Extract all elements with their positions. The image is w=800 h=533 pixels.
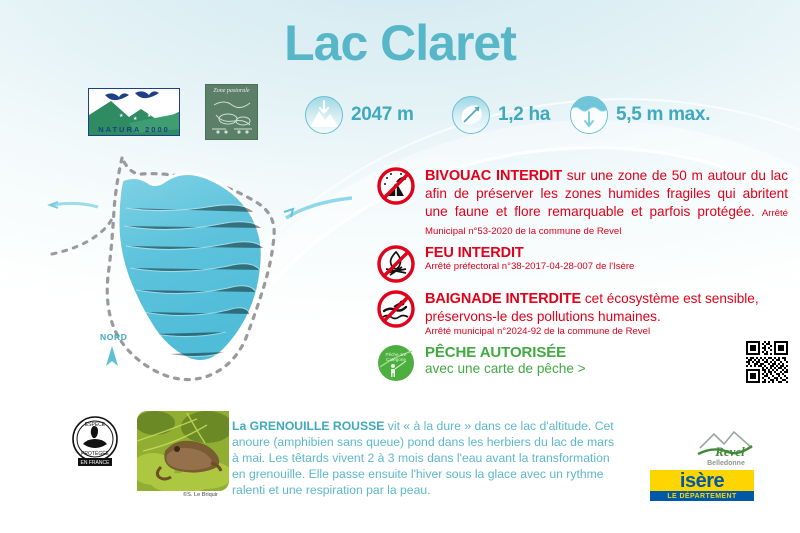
stat-area: 1,2 ha [452,96,550,134]
stat-altitude-value: 2047 m [351,104,414,126]
zone-pastorale-label: Zone pastorale [206,88,257,94]
page-title: Lac Claret [0,14,800,72]
stamp-top-label: ESPÈCE [85,421,106,428]
rules-list: BIVOUAC INTERDIT sur une zone de 50 m au… [376,166,788,388]
photo-credit: ©S. Le Briquir [183,492,218,498]
no-swimming-icon [376,289,416,329]
lake-water [118,173,264,361]
rule-swimming-body: BAIGNADE INTERDITE cet écosystème est se… [425,289,788,338]
fishing-badge-line2: Catégorie [386,357,406,362]
lake-map: NORD [22,150,372,410]
isere-tagline: LE DÉPARTEMENT [667,493,736,500]
zone-pastorale-logo: Zone pastorale [205,84,258,140]
rule-swimming-reference: Arrêté municipal n°2024-92 de la commune… [425,326,788,338]
rule-fire-reference: Arrêté préfectoral n°38-2017-04-28-007 d… [425,261,788,273]
revel-belledonne-logo: Revel Belledonne [690,428,762,468]
revel-name: Revel [714,444,745,459]
mountain-altitude-icon [305,96,343,134]
rule-fire-body: FEU INTERDIT Arrêté préfectoral n°38-201… [425,244,788,284]
isere-name: isère [680,471,724,491]
stat-altitude: 2047 m [305,96,414,134]
rule-bivouac-body: BIVOUAC INTERDIT sur une zone de 50 m au… [425,166,788,239]
svg-text:★: ★ [133,116,138,122]
rule-swimming: BAIGNADE INTERDITE cet écosystème est se… [376,289,788,338]
fishing-allowed-icon: Pêche 1re Catégorie [376,343,416,383]
natura-2000-logo: ★★★ ★★★ NATURA 2000 [88,88,180,136]
isere-tagline-bar: LE DÉPARTEMENT [650,491,754,501]
stamp-banner-label: EN FRANCE [81,460,111,466]
rule-swimming-headline: BAIGNADE INTERDITE [425,291,581,307]
water-depth-icon [570,96,608,134]
svg-text:★: ★ [123,106,128,112]
rule-fishing-headline: PÊCHE AUTORISÉE [425,344,729,361]
species-description: La GRENOUILLE ROUSSE vit « à la dure » d… [232,418,622,498]
rule-fire-headline: FEU INTERDIT [425,245,788,261]
no-fire-icon [376,244,416,284]
compass-arrow [106,346,118,366]
rule-fishing-text: avec une carte de pêche > [425,361,729,378]
stat-depth: 5,5 m max. [570,96,710,134]
qr-code[interactable] [746,341,788,383]
svg-text:★: ★ [143,106,148,112]
rule-fishing: Pêche 1re Catégorie PÊCHE AUTORISÉE avec… [376,343,788,383]
rule-fire: FEU INTERDIT Arrêté préfectoral n°38-201… [376,244,788,284]
stream-east [284,198,352,218]
rule-bivouac: BIVOUAC INTERDIT sur une zone de 50 m au… [376,166,788,239]
revel-sub: Belledonne [707,460,745,467]
species-name: La GRENOUILLE ROUSSE [232,419,384,433]
stat-depth-value: 5,5 m max. [616,104,710,126]
rule-bivouac-headline: BIVOUAC INTERDIT [425,168,562,184]
surface-area-icon [452,96,490,134]
stamp-bottom-label: PROTÉGÉE [81,450,109,457]
isere-name-box: isère [650,470,754,492]
natura-2000-label: NATURA 2000 [89,125,179,134]
compass-label: NORD [100,332,127,342]
isere-departement-logo: isère LE DÉPARTEMENT [650,470,754,502]
protected-species-stamp: ESPÈCE PROTÉGÉE EN FRANCE [66,412,124,470]
rule-fishing-body: PÊCHE AUTORISÉE avec une carte de pêche … [425,343,729,383]
svg-text:★: ★ [119,113,124,119]
poster-root: Lac Claret ★★★ ★★★ NATURA 2000 Zone past… [0,0,800,533]
no-bivouac-icon [376,166,416,206]
svg-text:★: ★ [133,104,138,110]
svg-text:★: ★ [147,113,152,119]
stat-area-value: 1,2 ha [498,104,550,126]
frog-photo [137,411,229,491]
stream-west [50,202,98,208]
